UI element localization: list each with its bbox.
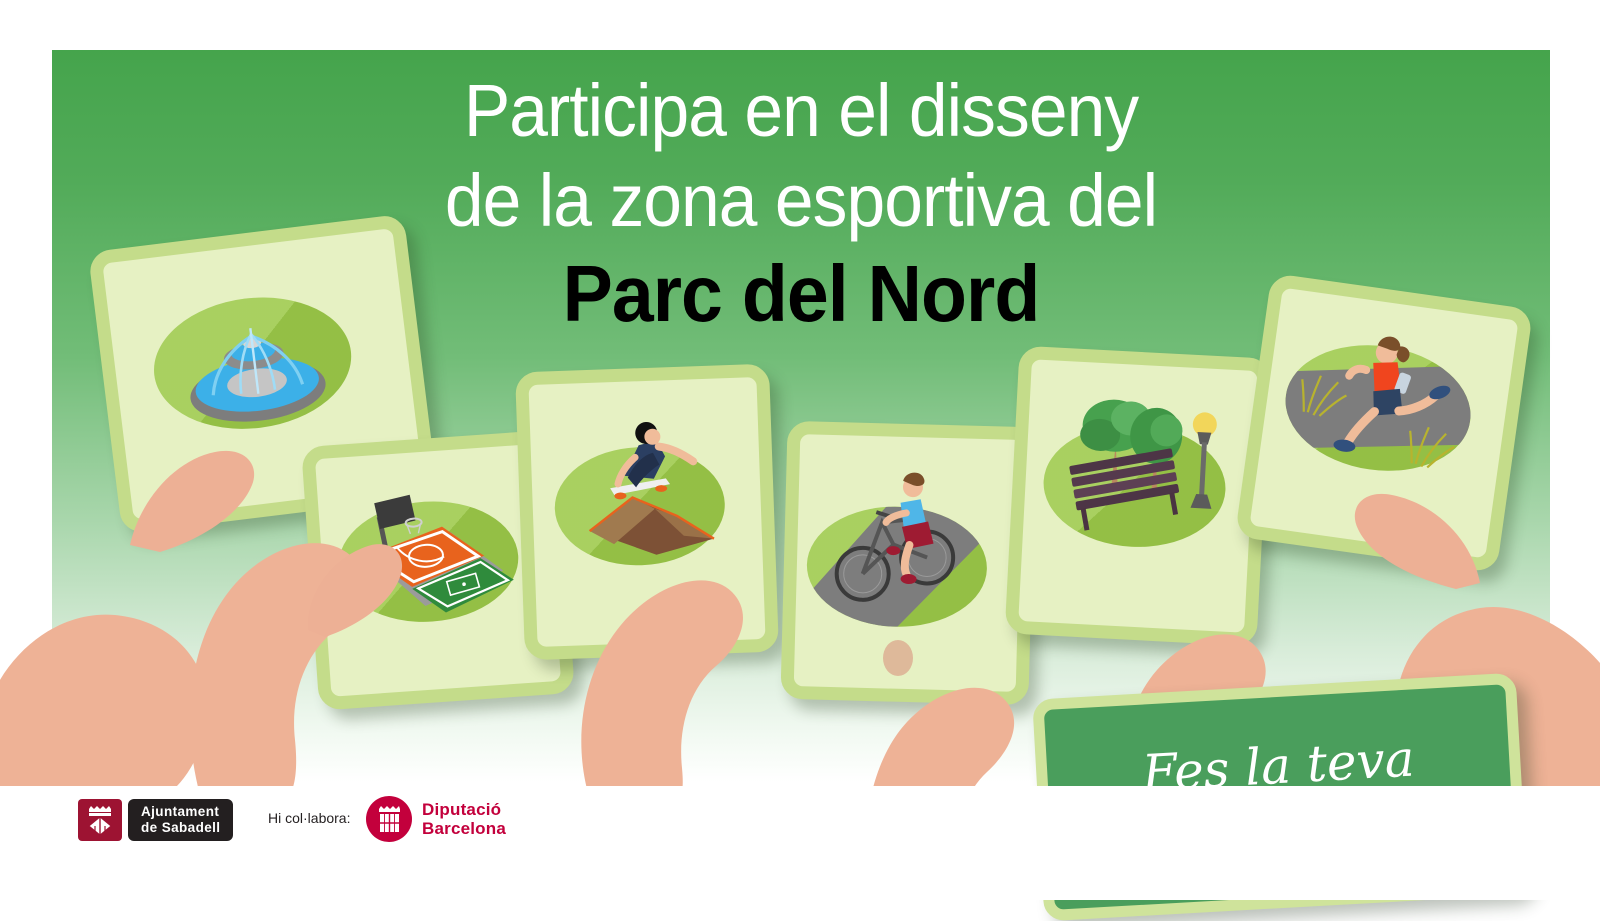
- sabadell-crest-icon: [78, 799, 122, 841]
- logo-diputacio-barcelona[interactable]: Diputació Barcelona: [366, 796, 506, 842]
- hand-third: [560, 500, 820, 800]
- diputacio-wordmark: Diputació Barcelona: [422, 800, 506, 838]
- diputacio-line-2: Barcelona: [422, 819, 506, 838]
- collaborator-label: Hi col·labora:: [268, 810, 350, 826]
- diputacio-crest-icon: [366, 796, 412, 842]
- hand-right-outer-finger: [1330, 475, 1490, 595]
- logo-ajuntament-sabadell[interactable]: Ajuntament de Sabadell: [78, 799, 233, 841]
- poster-canvas: Participa en el disseny de la zona espor…: [0, 0, 1600, 900]
- hand-second-finger: [300, 525, 420, 645]
- diputacio-line-1: Diputació: [422, 800, 506, 819]
- ajuntament-line-2: de Sabadell: [141, 820, 220, 836]
- ajuntament-wordmark: Ajuntament de Sabadell: [128, 799, 233, 841]
- ajuntament-line-1: Ajuntament: [141, 804, 220, 820]
- footer-logos: Ajuntament de Sabadell Hi col·labora: Di…: [0, 786, 1600, 900]
